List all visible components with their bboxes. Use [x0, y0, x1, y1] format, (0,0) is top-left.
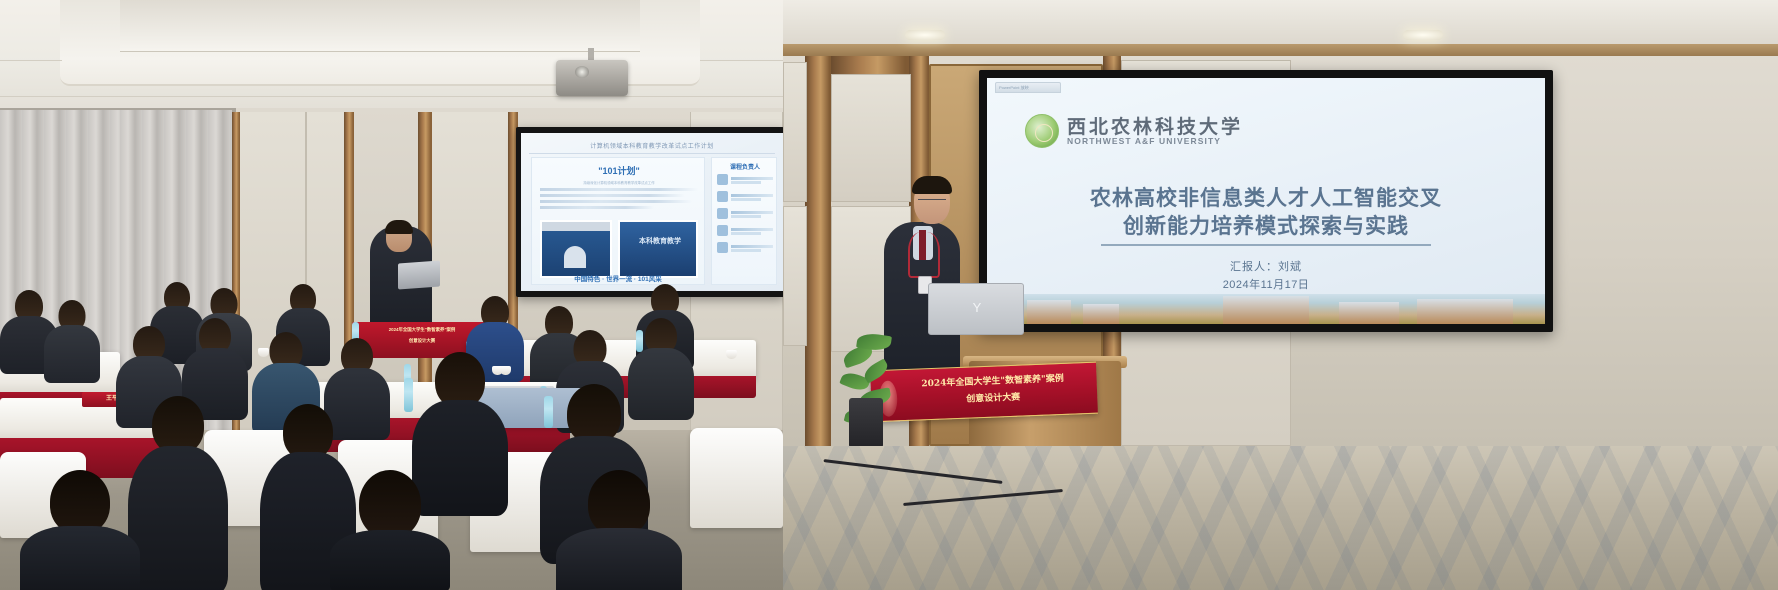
audience-person	[556, 470, 682, 590]
slide-presenter-label: 汇报人：刘斌	[987, 258, 1545, 274]
ceiling-light-icon	[1403, 30, 1443, 40]
slide-side-panel-heading: 课程负责人	[712, 162, 778, 171]
slide-footer: 中国特色 · 世界一流 · 101风采	[531, 273, 705, 283]
wall-panel	[783, 206, 807, 346]
window-bar-label: PowerPoint 放映	[999, 85, 1029, 91]
wall-panel	[783, 62, 807, 202]
presenter-laptop	[398, 261, 440, 290]
powerpoint-window-bar: PowerPoint 放映	[995, 82, 1061, 93]
list-item	[717, 191, 773, 204]
ceiling-line-2	[0, 60, 62, 61]
projector-lens-icon	[575, 66, 589, 78]
right-panel-photo: PowerPoint 放映 西北农林科技大学 NORTHWEST A&F UNI…	[783, 0, 1778, 590]
university-name-cn: 西北农林科技大学	[1067, 112, 1243, 139]
slide-main-block: "101计划" 持续深化计算机领域本科教育教学改革试点工作 本科教育教学	[531, 157, 705, 285]
presenter-hair	[385, 220, 413, 234]
projection-screen: 计算机领域本科教育教学改革试点工作计划 "101计划" 持续深化计算机领域本科教…	[521, 133, 783, 291]
laptop: Y	[928, 283, 1024, 335]
slide-thumbnail-2: 本科教育教学	[618, 220, 698, 278]
speaker-hair	[912, 176, 952, 194]
slide-thumbnail-2-caption: 本科教育教学	[626, 236, 694, 246]
slide-title: 计算机领域本科教育教学改革试点工作计划	[529, 141, 775, 150]
ceiling-recess-inner	[120, 0, 640, 52]
slide-date: 2024年11月17日	[987, 276, 1545, 292]
wood-header-trim	[831, 56, 909, 74]
slide-side-panel: 课程负责人	[711, 157, 777, 285]
slide-campus-photo	[987, 294, 1545, 324]
podium-banner: 2024年全国大学生"数智素养"案例 创意设计大赛	[870, 362, 1098, 423]
slide-subheading: 持续深化计算机领域本科教育教学改革试点工作	[540, 180, 698, 185]
audience-person	[330, 470, 450, 590]
water-bottle	[404, 378, 413, 412]
slide-divider-rule	[1101, 244, 1431, 246]
eyeglasses-icon	[918, 199, 946, 206]
slide-heading: "101计划"	[532, 164, 706, 177]
wood-column-1	[805, 56, 831, 446]
chair	[690, 428, 783, 528]
list-item	[717, 225, 773, 238]
projection-screen: PowerPoint 放映 西北农林科技大学 NORTHWEST A&F UNI…	[987, 78, 1545, 324]
tea-cup	[726, 350, 737, 359]
patterned-carpet	[783, 446, 1778, 590]
audience-person	[44, 300, 100, 380]
slide-title-rule	[529, 153, 775, 154]
vaio-logo-icon: Y	[970, 301, 984, 315]
slide-title-line-1: 农林高校非信息类人才人工智能交叉	[987, 182, 1545, 212]
projector-icon	[556, 60, 628, 96]
trash-bin	[849, 398, 883, 448]
audience-person	[128, 396, 228, 590]
ceiling-edge-line	[0, 96, 783, 97]
slide-title-line-2: 创新能力培养模式探索与实践	[987, 210, 1545, 240]
slide-body-lines	[540, 188, 698, 212]
list-item	[717, 242, 773, 255]
speaker-lanyard	[908, 232, 940, 278]
wall-panel	[831, 74, 911, 202]
list-item	[717, 208, 773, 221]
water-bottle	[544, 396, 553, 428]
slide-thumbnail-1	[540, 220, 612, 278]
audience-person	[20, 470, 140, 590]
banner-line-2: 创意设计大赛	[893, 387, 1093, 408]
university-seal-icon	[1025, 114, 1059, 148]
photo-composite: 计算机领域本科教育教学改革试点工作计划 "101计划" 持续深化计算机领域本科教…	[0, 0, 1778, 590]
ceiling-line-3	[700, 60, 783, 61]
ceiling-light-icon	[905, 30, 945, 40]
university-name-en: NORTHWEST A&F UNIVERSITY	[1067, 136, 1221, 146]
left-panel-photo: 计算机领域本科教育教学改革试点工作计划 "101计划" 持续深化计算机领域本科教…	[0, 0, 783, 590]
list-item	[717, 174, 773, 187]
